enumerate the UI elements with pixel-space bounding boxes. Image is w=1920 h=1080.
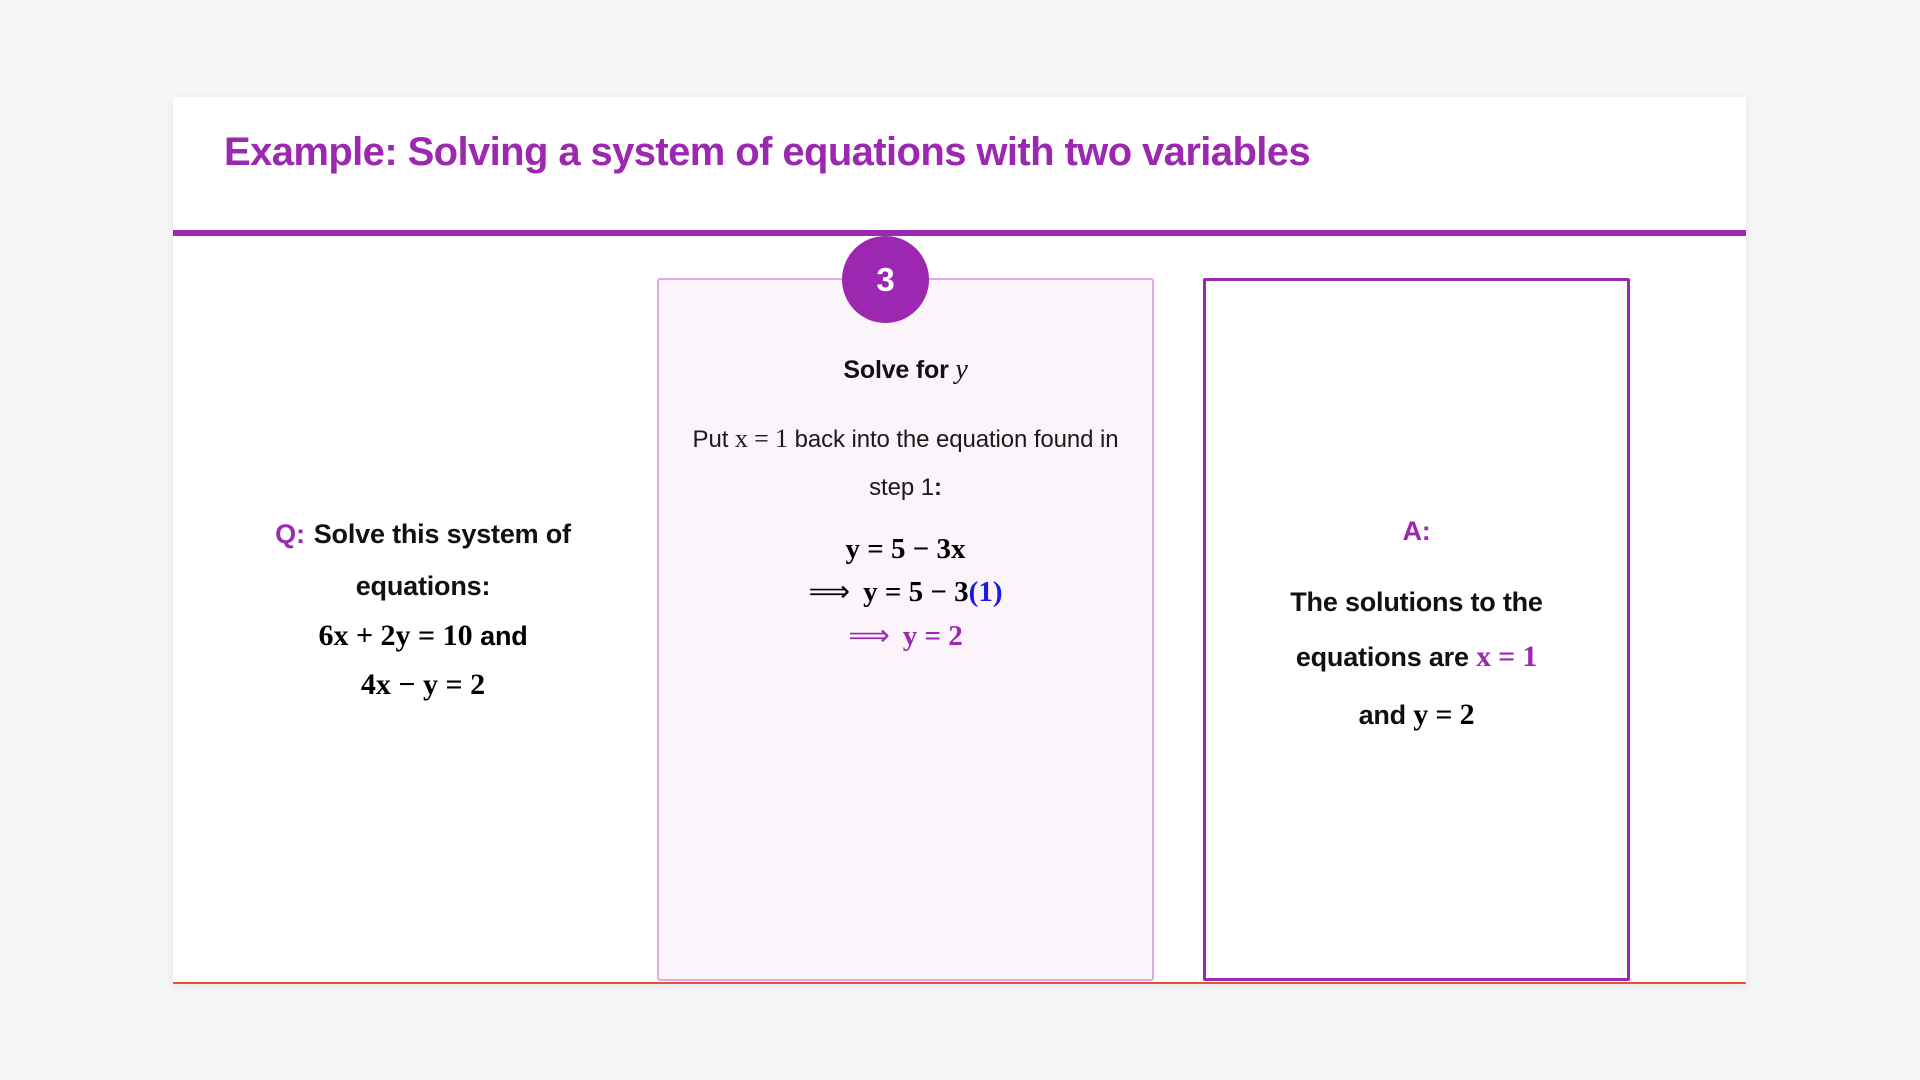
answer-solution-x: x = 1 [1476, 640, 1537, 673]
answer-marker: A: [1402, 516, 1430, 547]
step-instruction-colon: : [934, 474, 942, 501]
step-instruction-equation: x = 1 [735, 424, 788, 453]
question-prompt-line-2: equations: [356, 560, 491, 612]
slide-header: Example: Solving a system of equations w… [173, 97, 1746, 233]
implies-arrow-icon-2: ⟹ [848, 620, 890, 652]
step-math-line-3: ⟹y = 2 [673, 615, 1138, 659]
question-column: Q:Solve this system of equations: 6x + 2… [193, 236, 653, 981]
question-prompt-line-1: Q:Solve this system of [275, 508, 571, 560]
slide-content: Q:Solve this system of equations: 6x + 2… [173, 236, 1746, 981]
answer-text-line-3: and y = 2 [1290, 686, 1543, 744]
question-equation-1: 6x + 2y = 10 [318, 619, 472, 652]
question-equation-2: 4x − y = 2 [361, 661, 485, 710]
answer-panel: A: The solutions to the equations are x … [1203, 278, 1630, 981]
step-heading-variable: y [955, 354, 967, 385]
question-marker: Q: [275, 519, 305, 549]
step-math-substituted-value: (1) [969, 576, 1003, 608]
implies-arrow-icon: ⟹ [809, 576, 851, 608]
slide-root: Example: Solving a system of equations w… [0, 0, 1920, 1080]
answer-text-line-3-prefix: and [1359, 700, 1406, 730]
answer-solution-y: y = 2 [1413, 698, 1474, 731]
answer-text-line-2-prefix: equations are [1296, 642, 1469, 672]
step-instruction: Put x = 1 back into the equation found i… [673, 413, 1138, 512]
step-column: 3 Solve for y Put x = 1 back into the eq… [657, 236, 1182, 981]
step-math-line-2: ⟹y = 5 − 3(1) [673, 571, 1138, 615]
page-title: Example: Solving a system of equations w… [224, 130, 1310, 175]
answer-text: The solutions to the equations are x = 1… [1290, 576, 1543, 744]
question-equation-row-1: 6x + 2y = 10 and [318, 612, 527, 661]
step-math-result: y = 2 [903, 620, 963, 652]
step-instruction-part-1: Put [693, 426, 729, 453]
answer-column: A: The solutions to the equations are x … [1203, 236, 1728, 981]
step-heading-text: Solve for [843, 356, 948, 384]
step-math-line-1: y = 5 − 3x [673, 528, 1138, 572]
slide-card: Example: Solving a system of equations w… [173, 97, 1746, 984]
step-number-badge: 3 [842, 236, 929, 323]
answer-text-line-2: equations are x = 1 [1290, 628, 1543, 686]
step-content: Solve for y Put x = 1 back into the equa… [657, 278, 1154, 658]
step-heading: Solve for y [673, 354, 1138, 386]
question-conjunction: and [480, 621, 527, 651]
step-math-line-2-main: y = 5 − 3 [863, 576, 969, 608]
step-instruction-part-2: back into the equation [795, 426, 1028, 453]
question-prompt-text-1: Solve this system of [314, 519, 571, 549]
answer-text-line-1: The solutions to the [1290, 576, 1543, 628]
